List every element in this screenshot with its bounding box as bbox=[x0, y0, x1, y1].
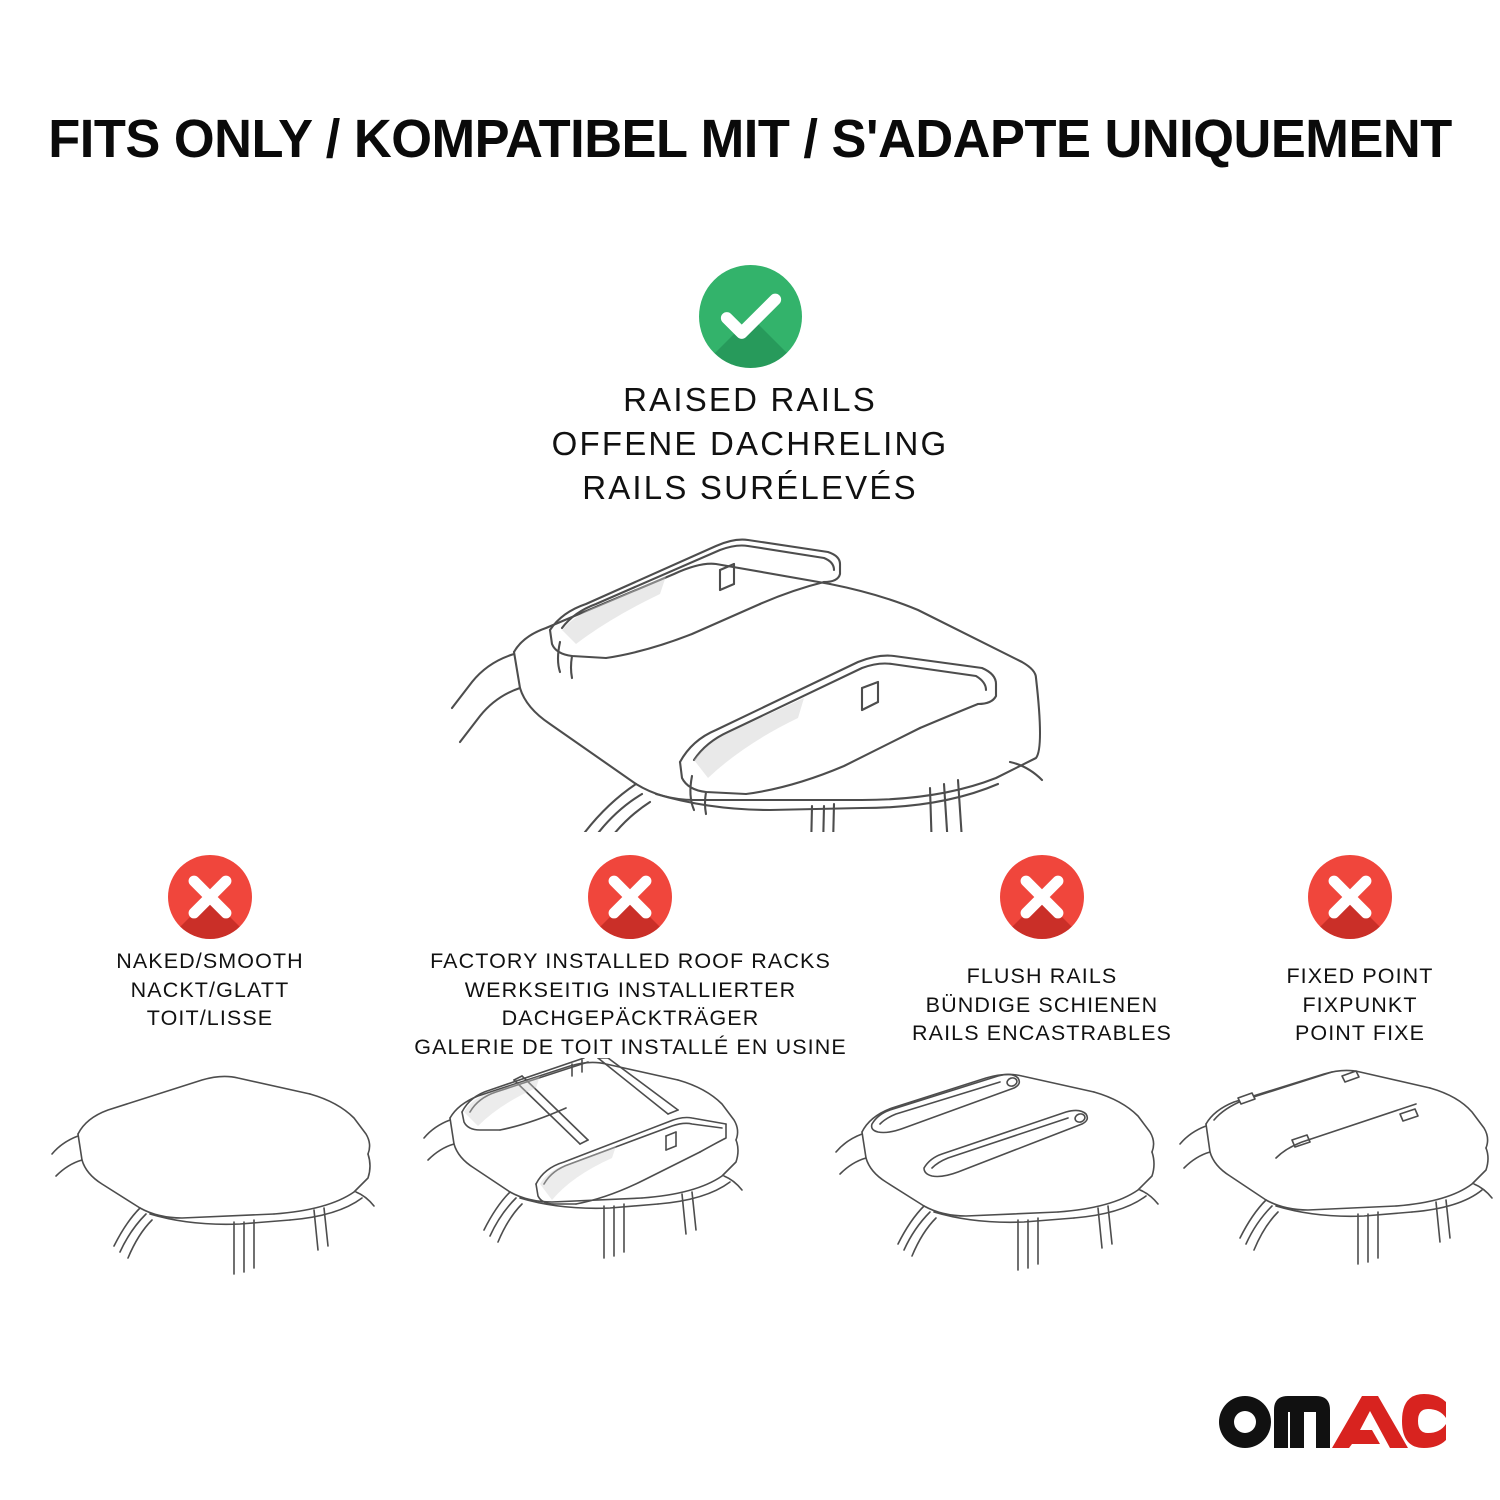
incompatible-labels-naked-smooth: NAKED/SMOOTH NACKT/GLATT TOIT/LISSE bbox=[30, 947, 390, 1033]
label-line-de: FIXPUNKT bbox=[1220, 991, 1500, 1020]
x-circle-icon bbox=[588, 855, 672, 939]
compatible-label-fr: RAILS SURÉLEVÉS bbox=[0, 466, 1500, 510]
label-line-fr: TOIT/LISSE bbox=[30, 1004, 390, 1033]
car-roof-raised-rails-illustration bbox=[410, 512, 1110, 832]
car-roof-flush-rails-illustration bbox=[822, 1062, 1182, 1277]
label-line-de-2: DACHGEPÄCKTRÄGER bbox=[398, 1004, 863, 1033]
label-line-fr: POINT FIXE bbox=[1220, 1019, 1500, 1048]
car-roof-factory-roof-racks-illustration bbox=[400, 1058, 770, 1278]
label-line-en: NAKED/SMOOTH bbox=[30, 947, 390, 976]
x-circle-icon bbox=[1308, 855, 1392, 939]
compatible-label-en: RAISED RAILS bbox=[0, 378, 1500, 422]
x-circle-icon bbox=[1000, 855, 1084, 939]
compatible-label-de: OFFENE DACHRELING bbox=[0, 422, 1500, 466]
check-circle-icon bbox=[699, 265, 802, 368]
car-roof-naked-smooth-illustration bbox=[42, 1062, 392, 1277]
incompatible-labels-flush-rails: FLUSH RAILS BÜNDIGE SCHIENEN RAILS ENCAS… bbox=[872, 962, 1212, 1048]
x-circle-icon bbox=[168, 855, 252, 939]
car-roof-fixed-point-illustration bbox=[1172, 1062, 1500, 1277]
label-line-de-1: WERKSEITIG INSTALLIERTER bbox=[398, 976, 863, 1005]
fitment-guide-page: FITS ONLY / KOMPATIBEL MIT / S'ADAPTE UN… bbox=[0, 0, 1500, 1500]
incompatible-labels-factory-roof-racks: FACTORY INSTALLED ROOF RACKS WERKSEITIG … bbox=[398, 947, 863, 1061]
omac-logo bbox=[1212, 1380, 1452, 1452]
compatible-labels: RAISED RAILS OFFENE DACHRELING RAILS SUR… bbox=[0, 378, 1500, 510]
page-title: FITS ONLY / KOMPATIBEL MIT / S'ADAPTE UN… bbox=[23, 108, 1478, 170]
label-line-en: FACTORY INSTALLED ROOF RACKS bbox=[398, 947, 863, 976]
label-line-de: BÜNDIGE SCHIENEN bbox=[872, 991, 1212, 1020]
label-line-de: NACKT/GLATT bbox=[30, 976, 390, 1005]
incompatible-labels-fixed-point: FIXED POINT FIXPUNKT POINT FIXE bbox=[1220, 962, 1500, 1048]
label-line-en: FLUSH RAILS bbox=[872, 962, 1212, 991]
label-line-fr: RAILS ENCASTRABLES bbox=[872, 1019, 1212, 1048]
label-line-en: FIXED POINT bbox=[1220, 962, 1500, 991]
